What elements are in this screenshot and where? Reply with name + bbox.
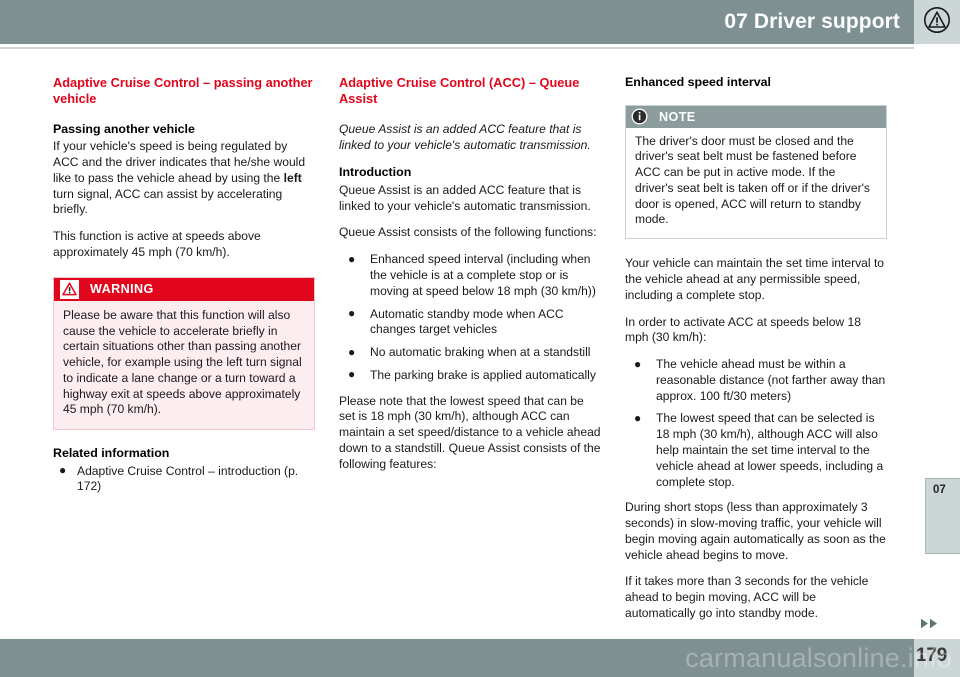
info-circle-icon bbox=[631, 108, 648, 125]
header-warning-icon-box bbox=[914, 0, 960, 44]
right-paragraph-2: In order to activate ACC at speeds below… bbox=[625, 315, 887, 347]
chapter-tab-label: 07 bbox=[933, 484, 946, 496]
middle-bullet-3: The parking brake is applied automatical… bbox=[370, 368, 596, 382]
bullet-dot-icon: ● bbox=[348, 367, 355, 383]
three-column-layout: Adaptive Cruise Control – passing anothe… bbox=[53, 75, 887, 633]
bullet-dot-icon: ● bbox=[348, 252, 355, 268]
left-paragraph-1: If your vehicle's speed is being regulat… bbox=[53, 139, 315, 218]
middle-bullet-0: Enhanced speed interval (including when … bbox=[370, 252, 596, 298]
right-paragraph-1: Your vehicle can maintain the set time i… bbox=[625, 256, 887, 303]
warning-box-text: Please be aware that this function will … bbox=[63, 308, 305, 418]
middle-subheading: Introduction bbox=[339, 165, 601, 181]
column-middle: Adaptive Cruise Control (ACC) – Queue As… bbox=[339, 75, 601, 633]
list-item: ●The vehicle ahead must be within a reas… bbox=[625, 357, 887, 404]
column-left: Adaptive Cruise Control – passing anothe… bbox=[53, 75, 315, 633]
page-content: Adaptive Cruise Control – passing anothe… bbox=[0, 49, 914, 595]
right-subheading: Enhanced speed interval bbox=[625, 75, 887, 91]
warning-triangle-icon bbox=[60, 280, 79, 299]
left-section-heading: Adaptive Cruise Control – passing anothe… bbox=[53, 75, 315, 108]
warning-box-header: WARNING bbox=[54, 278, 314, 301]
bullet-dot-icon: ● bbox=[348, 306, 355, 322]
warning-triangle-circle-icon bbox=[923, 6, 951, 39]
warning-box: WARNING Please be aware that this functi… bbox=[53, 277, 315, 430]
right-activation-list: ●The vehicle ahead must be within a reas… bbox=[625, 357, 887, 490]
right-paragraph-4: If it takes more than 3 seconds for the … bbox=[625, 574, 887, 621]
page-header: 07 Driver support bbox=[0, 0, 960, 44]
left-paragraph-1-a: If your vehicle's speed is being regulat… bbox=[53, 139, 305, 185]
middle-paragraph-3: Please note that the lowest speed that c… bbox=[339, 394, 601, 473]
warning-box-body: Please be aware that this function will … bbox=[54, 301, 314, 429]
related-information-heading: Related information bbox=[53, 446, 315, 462]
note-box-text: The driver's door must be closed and the… bbox=[635, 134, 877, 229]
double-right-arrow-icon[interactable] bbox=[920, 618, 939, 629]
right-paragraph-3: During short stops (less than approximat… bbox=[625, 500, 887, 563]
middle-bullet-2: No automatic braking when at a standstil… bbox=[370, 345, 591, 359]
middle-paragraph-1: Queue Assist is an added ACC feature tha… bbox=[339, 183, 601, 215]
list-item: ●The lowest speed that can be selected i… bbox=[625, 411, 887, 490]
middle-function-list: ●Enhanced speed interval (including when… bbox=[339, 252, 601, 383]
chapter-tab[interactable]: 07 bbox=[925, 478, 960, 554]
related-information-item-0: Adaptive Cruise Control – introduction (… bbox=[77, 464, 298, 494]
bullet-dot-icon: ● bbox=[634, 411, 641, 427]
list-item: ●The parking brake is applied automatica… bbox=[339, 368, 601, 384]
right-bullet-0: The vehicle ahead must be within a reaso… bbox=[656, 357, 885, 403]
middle-paragraph-2: Queue Assist consists of the following f… bbox=[339, 225, 601, 241]
left-subheading: Passing another vehicle bbox=[53, 122, 315, 138]
middle-bullet-1: Automatic standby mode when ACC changes … bbox=[370, 307, 564, 337]
bullet-dot-icon: ● bbox=[634, 357, 641, 373]
left-paragraph-2: This function is active at speeds above … bbox=[53, 229, 315, 261]
page-number: 179 bbox=[916, 645, 947, 667]
list-item[interactable]: ●Adaptive Cruise Control – introduction … bbox=[53, 464, 315, 496]
note-box-body: The driver's door must be closed and the… bbox=[626, 128, 886, 239]
list-item: ●Enhanced speed interval (including when… bbox=[339, 252, 601, 299]
footer-bar bbox=[0, 639, 914, 677]
column-right: Enhanced speed interval NOTE The driver'… bbox=[625, 75, 887, 633]
right-bullet-1: The lowest speed that can be selected is… bbox=[656, 411, 883, 488]
left-paragraph-1-b: turn signal, ACC can assist by accelerat… bbox=[53, 187, 282, 217]
bullet-dot-icon: ● bbox=[59, 463, 66, 479]
note-box-header: NOTE bbox=[626, 106, 886, 128]
list-item: ●No automatic braking when at a standsti… bbox=[339, 345, 601, 361]
page-title: 07 Driver support bbox=[724, 10, 914, 34]
middle-lead-italic: Queue Assist is an added ACC feature tha… bbox=[339, 122, 601, 154]
related-information-list: ●Adaptive Cruise Control – introduction … bbox=[53, 464, 315, 496]
warning-box-label: WARNING bbox=[90, 282, 154, 296]
list-item: ●Automatic standby mode when ACC changes… bbox=[339, 307, 601, 339]
left-paragraph-1-bold: left bbox=[284, 171, 302, 185]
note-box-label: NOTE bbox=[659, 110, 696, 124]
bullet-dot-icon: ● bbox=[348, 345, 355, 361]
middle-section-heading: Adaptive Cruise Control (ACC) – Queue As… bbox=[339, 75, 601, 108]
note-box: NOTE The driver's door must be closed an… bbox=[625, 105, 887, 240]
